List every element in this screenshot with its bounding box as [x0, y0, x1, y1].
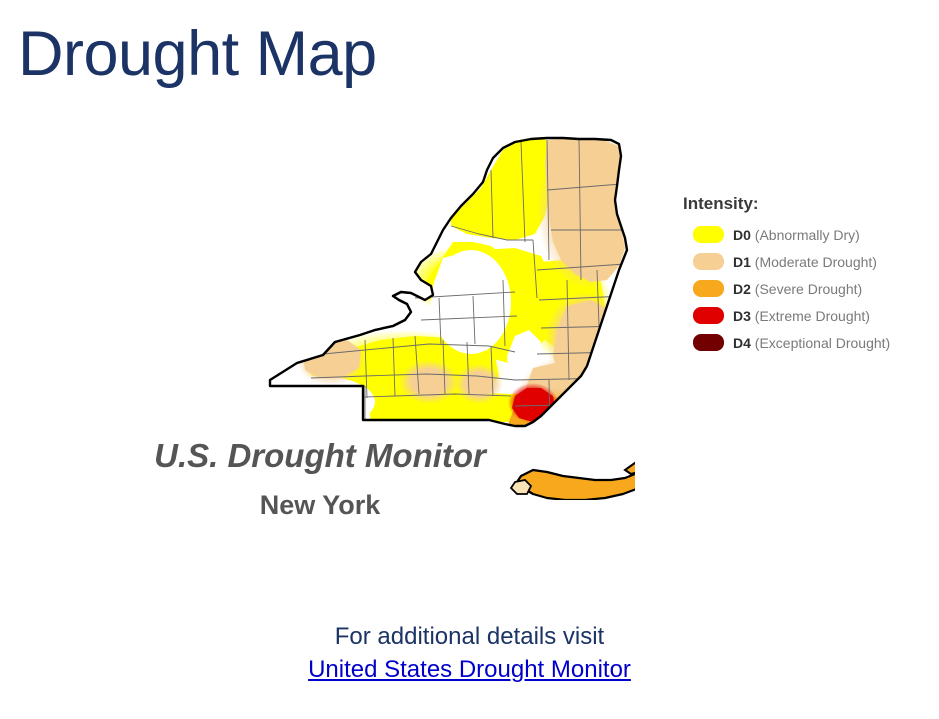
legend-desc-d3: (Extreme Drought) [755, 308, 870, 324]
legend-item-d2: D2 (Severe Drought) [681, 275, 931, 302]
region-nodrought-southwest-feather [263, 376, 375, 428]
legend-code-d3: D3 [733, 308, 755, 324]
long-island-shape [517, 462, 635, 500]
legend-code-d0: D0 [733, 227, 755, 243]
map-region-label: New York [110, 490, 530, 521]
intensity-legend: Intensity: D0 (Abnormally Dry) D1 (Moder… [681, 194, 931, 356]
legend-title: Intensity: [683, 194, 931, 214]
long-island-north-fork [625, 452, 635, 474]
region-d3-east-sliver [611, 398, 627, 424]
legend-desc-d0: (Abnormally Dry) [755, 227, 860, 243]
legend-swatch-d2 [693, 280, 724, 297]
region-nodrought-central-feather [431, 250, 511, 354]
legend-item-d1: D1 (Moderate Drought) [681, 248, 931, 275]
legend-code-d1: D1 [733, 254, 755, 270]
region-d1-central-patch [399, 360, 459, 404]
legend-item-d4: D4 (Exceptional Drought) [681, 329, 931, 356]
legend-desc-d4: (Exceptional Drought) [755, 335, 890, 351]
legend-swatch-d0 [693, 226, 724, 243]
legend-desc-d2: (Severe Drought) [755, 281, 862, 297]
legend-item-d3: D3 (Extreme Drought) [681, 302, 931, 329]
legend-swatch-d4 [693, 334, 724, 351]
footer-text: For additional details visit [0, 621, 939, 652]
drought-monitor-link[interactable]: United States Drought Monitor [308, 654, 631, 685]
legend-label-d1: D1 (Moderate Drought) [733, 254, 877, 270]
legend-code-d2: D2 [733, 281, 755, 297]
legend-desc-d1: (Moderate Drought) [755, 254, 877, 270]
legend-label-d2: D2 (Severe Drought) [733, 281, 862, 297]
drought-monitor-brand: U.S. Drought Monitor [110, 437, 530, 475]
footer: For additional details visit United Stat… [0, 621, 939, 685]
region-d1-finger-patch [455, 364, 503, 404]
legend-swatch-d3 [693, 307, 724, 324]
page-title: Drought Map [18, 21, 377, 87]
legend-item-d0: D0 (Abnormally Dry) [681, 221, 931, 248]
region-d2-east-edge [589, 356, 625, 450]
drought-map-figure: U.S. Drought Monitor New York [0, 130, 680, 540]
legend-code-d4: D4 [733, 335, 755, 351]
legend-swatch-d1 [693, 253, 724, 270]
legend-label-d4: D4 (Exceptional Drought) [733, 335, 890, 351]
legend-label-d0: D0 (Abnormally Dry) [733, 227, 860, 243]
legend-label-d3: D3 (Extreme Drought) [733, 308, 870, 324]
